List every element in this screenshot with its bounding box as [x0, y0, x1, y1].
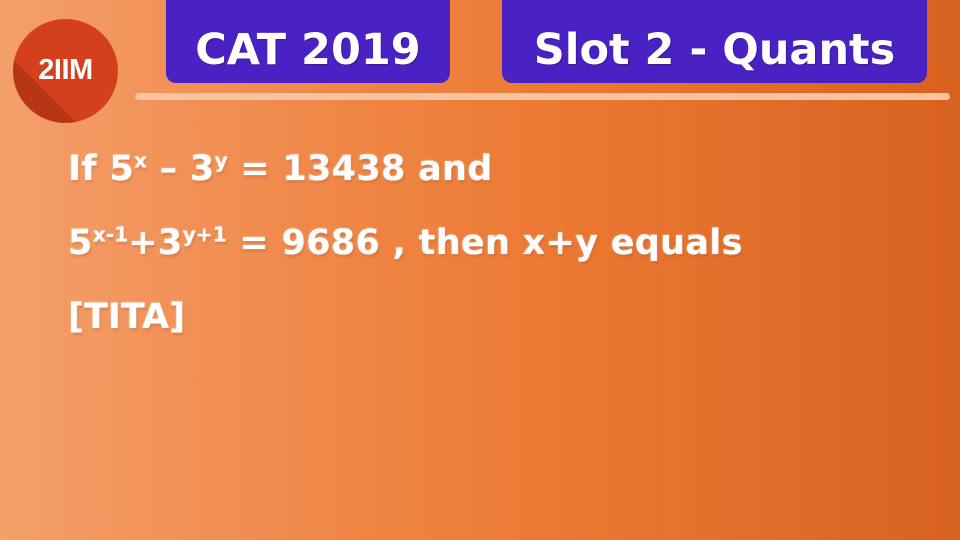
question-text: If 5x – 3y = 13438 and 5x-1+3y+1 = 9686 … — [68, 132, 928, 354]
section-badge-label: Slot 2 - Quants — [534, 25, 895, 75]
brand-logo: 2IIM — [13, 19, 118, 123]
line1-prefix: If 5 — [68, 149, 134, 189]
line2-superscript-x-minus-1: x-1 — [93, 222, 129, 246]
header-divider — [135, 93, 950, 100]
question-type-tag: [TITA] — [68, 280, 928, 354]
question-line-1: If 5x – 3y = 13438 and — [68, 132, 928, 206]
section-badge: Slot 2 - Quants — [502, 0, 927, 83]
line1-suffix: = 13438 and — [228, 149, 493, 189]
line2-suffix: = 9686 , then x+y equals — [227, 223, 743, 263]
line1-superscript-y: y — [215, 148, 228, 172]
exam-badge: CAT 2019 — [166, 0, 450, 83]
line1-mid: – 3 — [147, 149, 214, 189]
line2-mid: +3 — [128, 223, 182, 263]
exam-badge-label: CAT 2019 — [195, 25, 420, 75]
question-line-2: 5x-1+3y+1 = 9686 , then x+y equals — [68, 206, 928, 280]
slide-canvas: 2IIM CAT 2019 Slot 2 - Quants If 5x – 3y… — [0, 0, 960, 540]
line2-prefix: 5 — [68, 223, 93, 263]
line1-superscript-x: x — [134, 148, 147, 172]
line2-superscript-y-plus-1: y+1 — [183, 222, 227, 246]
logo-text: 2IIM — [13, 19, 118, 123]
